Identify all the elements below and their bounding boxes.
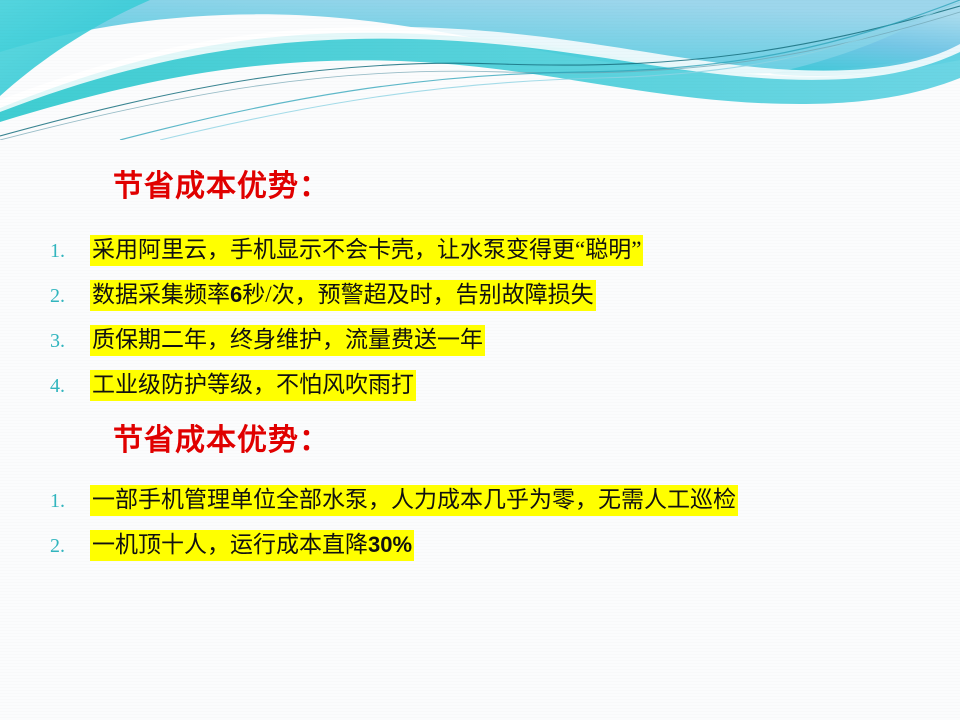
section-title-1: 节省成本优势： <box>113 172 330 202</box>
presentation-slide: 节省成本优势： 1. 采用阿里云，手机显示不会卡壳，让水泵变得更“聪明” 2. … <box>0 0 960 720</box>
list-item[interactable]: 2. 一机顶十人，运行成本直降30% <box>0 523 960 568</box>
list-marker: 1. <box>50 491 84 511</box>
list-item[interactable]: 2. 数据采集频率6秒/次，预警超及时，告别故障损失 <box>0 273 960 318</box>
list-item-text: 一部手机管理单位全部水泵，人力成本几乎为零，无需人工巡检 <box>90 485 738 516</box>
list-item-text: 采用阿里云，手机显示不会卡壳，让水泵变得更“聪明” <box>90 235 643 266</box>
section-title-2: 节省成本优势： <box>113 426 330 456</box>
list-item[interactable]: 4. 工业级防护等级，不怕风吹雨打 <box>0 363 960 408</box>
slide-content: 节省成本优势： 1. 采用阿里云，手机显示不会卡壳，让水泵变得更“聪明” 2. … <box>0 0 960 720</box>
list-item-text: 数据采集频率6秒/次，预警超及时，告别故障损失 <box>90 280 596 311</box>
list-marker: 2. <box>50 286 84 306</box>
list-item-text: 质保期二年，终身维护，流量费送一年 <box>90 325 485 356</box>
list-item[interactable]: 1. 采用阿里云，手机显示不会卡壳，让水泵变得更“聪明” <box>0 228 960 273</box>
latin-run: 6 <box>230 282 242 307</box>
latin-run: 30% <box>368 532 412 557</box>
list-item-text: 工业级防护等级，不怕风吹雨打 <box>90 370 416 401</box>
list-item-text: 一机顶十人，运行成本直降30% <box>90 530 414 561</box>
list-marker: 2. <box>50 536 84 556</box>
benefits-list-2: 1. 一部手机管理单位全部水泵，人力成本几乎为零，无需人工巡检 2. 一机顶十人… <box>0 478 960 568</box>
list-marker: 3. <box>50 331 84 351</box>
list-marker: 4. <box>50 376 84 396</box>
list-item[interactable]: 1. 一部手机管理单位全部水泵，人力成本几乎为零，无需人工巡检 <box>0 478 960 523</box>
list-marker: 1. <box>50 241 84 261</box>
benefits-list-1: 1. 采用阿里云，手机显示不会卡壳，让水泵变得更“聪明” 2. 数据采集频率6秒… <box>0 228 960 408</box>
list-item[interactable]: 3. 质保期二年，终身维护，流量费送一年 <box>0 318 960 363</box>
